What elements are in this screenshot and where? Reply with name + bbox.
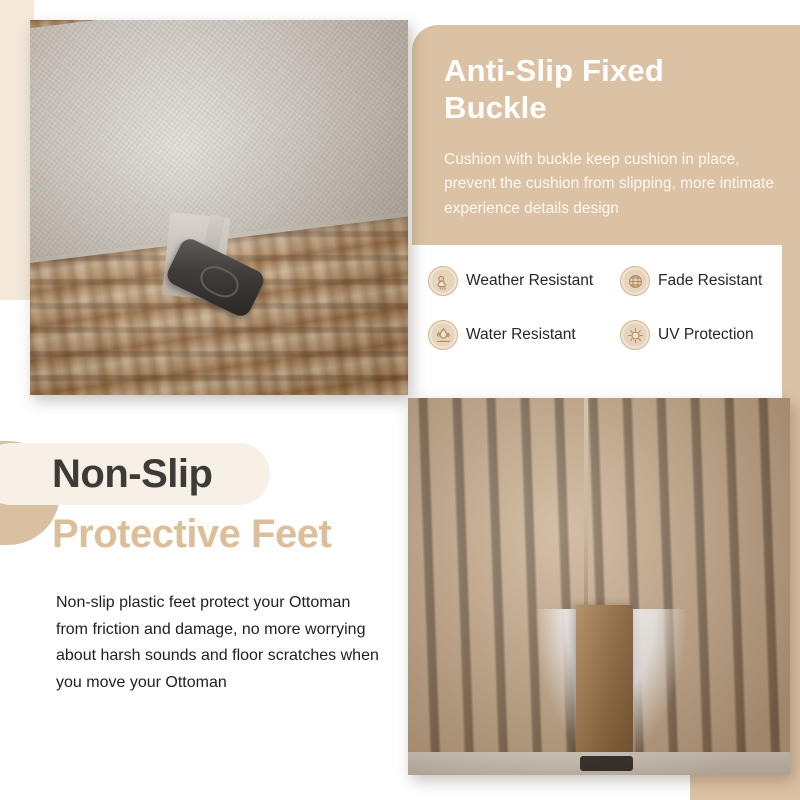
protective-feet-photo	[408, 398, 790, 775]
panel-headline: Anti-Slip Fixed Buckle	[444, 52, 774, 126]
feature-label: Water Resistant	[466, 327, 576, 343]
feature-water-resistant: Water Resistant	[428, 320, 620, 350]
panel-description: Cushion with buckle keep cushion in plac…	[444, 148, 784, 221]
fade-icon	[620, 266, 650, 296]
feature-fade-resistant: Fade Resistant	[620, 266, 788, 296]
lower-title-line2: Protective Feet	[52, 512, 331, 557]
lower-body-text: Non-slip plastic feet protect your Ottom…	[56, 590, 386, 696]
feature-label: UV Protection	[658, 327, 754, 343]
feature-badge-list: Weather Resistant Fade Resistant	[428, 266, 788, 374]
water-icon	[428, 320, 458, 350]
feature-label: Fade Resistant	[658, 273, 762, 289]
photo-vignette	[408, 398, 790, 775]
left-cream-strip	[0, 0, 34, 300]
feature-uv-protection: UV Protection	[620, 320, 788, 350]
weather-icon	[428, 266, 458, 296]
feature-label: Weather Resistant	[466, 273, 593, 289]
feature-weather-resistant: Weather Resistant	[428, 266, 620, 296]
buckle-closeup-photo	[30, 20, 408, 395]
photo-vignette	[30, 20, 408, 395]
uv-icon	[620, 320, 650, 350]
lower-title-line1: Non-Slip	[52, 452, 212, 497]
feature-row: Weather Resistant Fade Resistant	[428, 266, 788, 296]
feature-row: Water Resistant UV Protection	[428, 320, 788, 350]
